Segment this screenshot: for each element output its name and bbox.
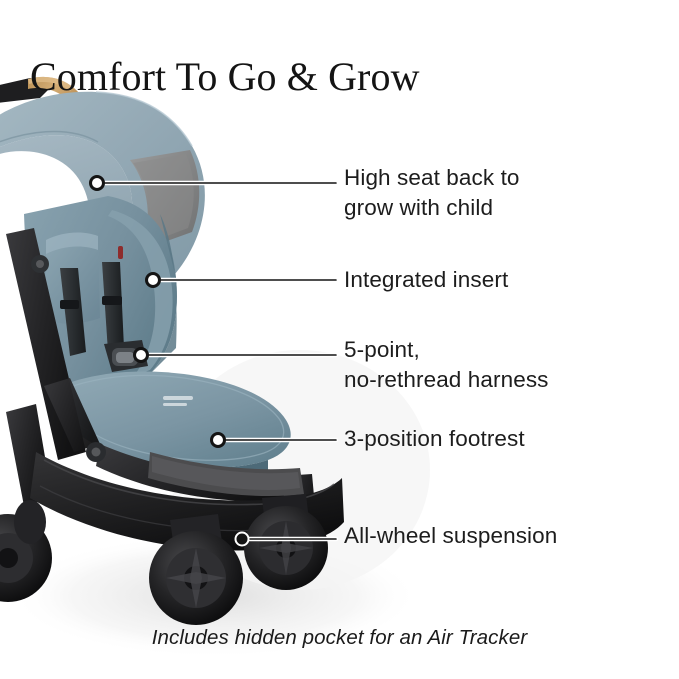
page-title: Comfort To Go & Grow [30,52,550,102]
callout-label-five-point-harness: 5-point, no-rethread harness [344,335,549,395]
infographic-canvas: Comfort To Go & Grow High seat back to g… [0,0,679,679]
callout-label-all-wheel-suspension: All-wheel suspension [344,521,557,551]
callout-anchor-dot-integrated-insert [147,274,160,287]
callout-label-three-position-footrest: 3-position footrest [344,424,525,454]
callout-anchor-dot-all-wheel-suspension [236,533,249,546]
product-illustration [0,0,679,679]
brand-wordmark-canopy [41,176,73,188]
callout-anchor-dot-five-point-harness [135,349,148,362]
callout-label-integrated-insert: Integrated insert [344,265,508,295]
callout-label-high-seat-back: High seat back to grow with child [344,163,520,223]
callout-anchor-dot-three-position-footrest [212,434,225,447]
footer-caption: Includes hidden pocket for an Air Tracke… [0,626,679,650]
callout-anchor-dot-high-seat-back [91,177,104,190]
